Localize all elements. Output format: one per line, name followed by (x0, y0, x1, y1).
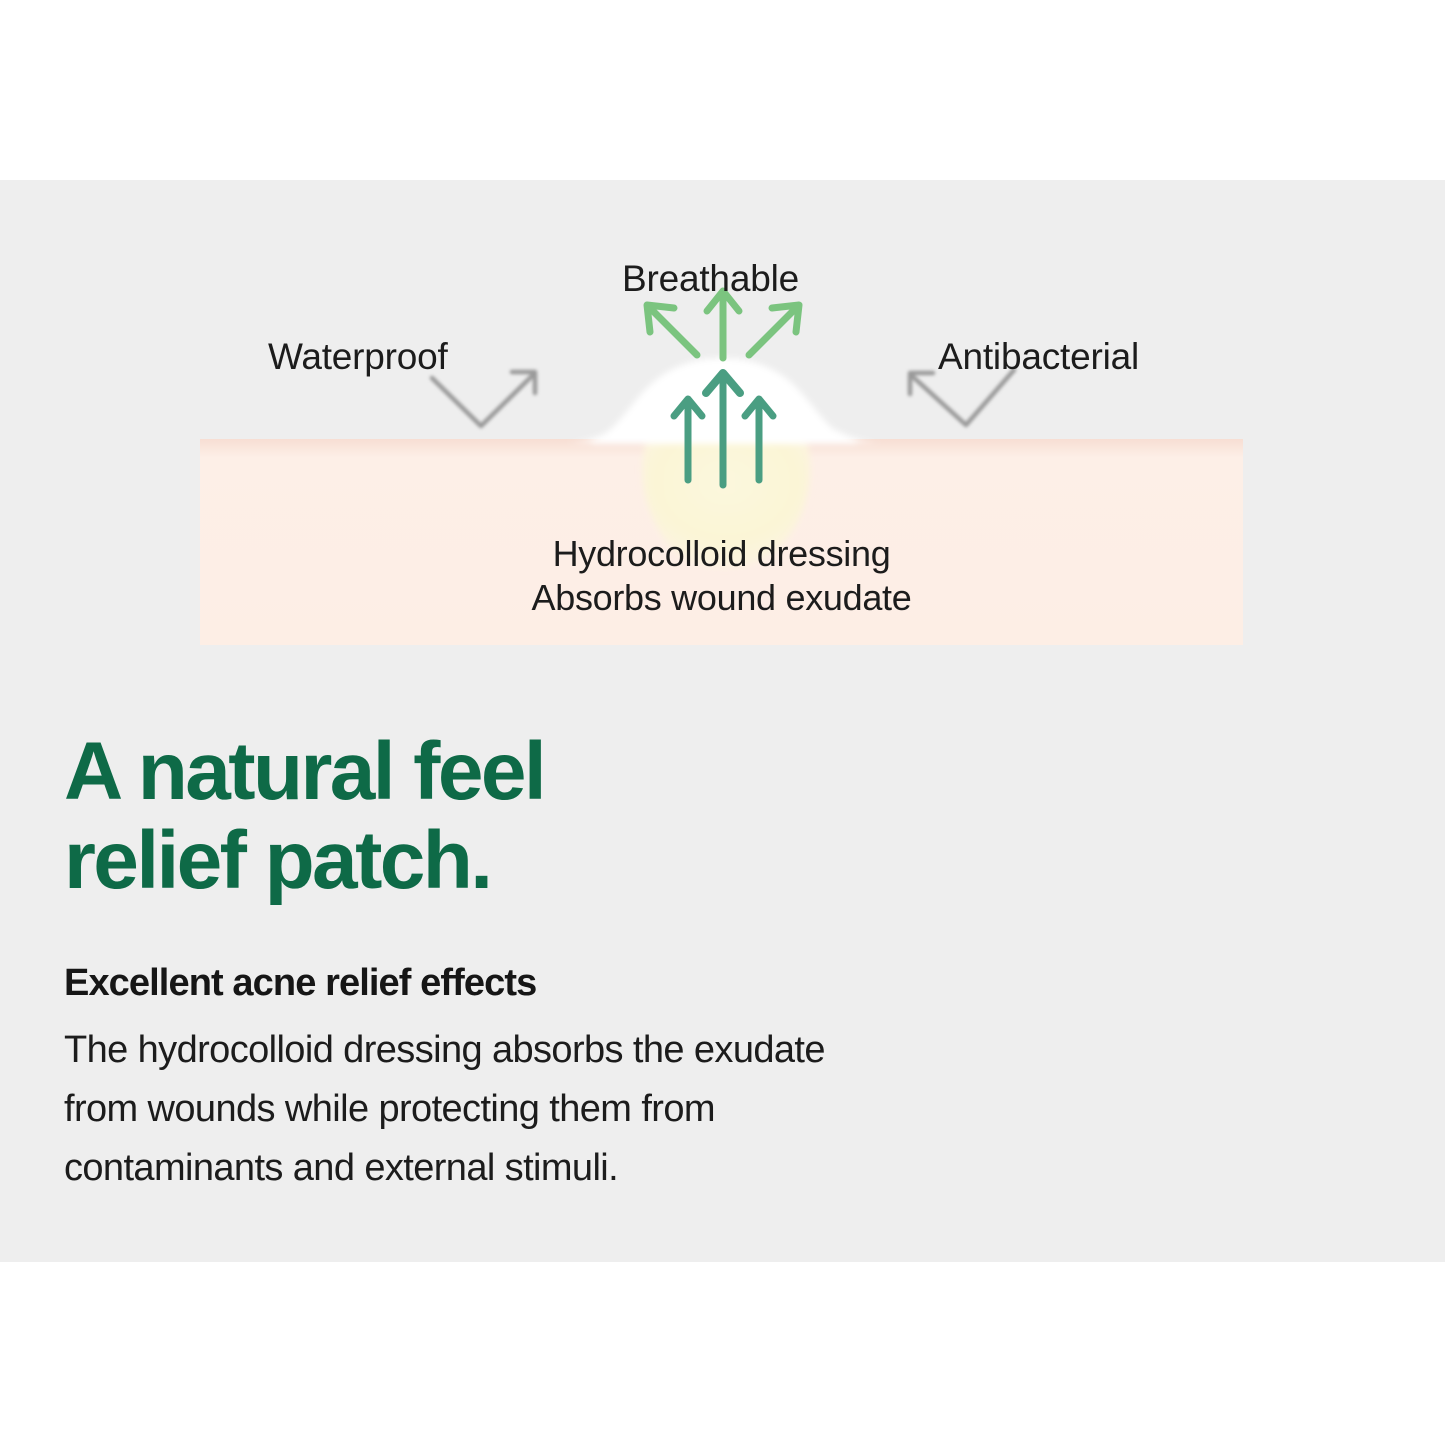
antibacterial-callout-arrow-icon (910, 370, 1014, 425)
product-infographic-page: Waterproof Breathable Antibacterial Hydr… (0, 0, 1445, 1445)
breathability-arrows-icon (647, 291, 799, 358)
headline-line-1: A natural feel (64, 728, 1164, 817)
page-title: A natural feel relief patch. (64, 728, 1164, 905)
diagram-caption: Hydrocolloid dressing Absorbs wound exud… (200, 532, 1243, 620)
waterproof-callout-arrow-icon (432, 372, 535, 426)
subheading: Excellent acne relief effects (64, 961, 1164, 1007)
label-breathable: Breathable (622, 258, 799, 299)
copy-block: A natural feel relief patch. Excellent a… (64, 728, 1164, 1198)
body-line-3: contaminants and external stimuli. (64, 1139, 1164, 1198)
label-antibacterial: Antibacterial (938, 336, 1139, 377)
caption-line-2: Absorbs wound exudate (200, 576, 1243, 620)
caption-line-1: Hydrocolloid dressing (200, 532, 1243, 576)
body-line-1: The hydrocolloid dressing absorbs the ex… (64, 1021, 1164, 1080)
content-panel: Waterproof Breathable Antibacterial Hydr… (0, 180, 1445, 1262)
cross-section-diagram: Waterproof Breathable Antibacterial Hydr… (0, 180, 1445, 680)
body-line-2: from wounds while protecting them from (64, 1080, 1164, 1139)
label-waterproof: Waterproof (268, 336, 448, 377)
body-paragraph: The hydrocolloid dressing absorbs the ex… (64, 1021, 1164, 1199)
headline-line-2: relief patch. (64, 817, 1164, 906)
